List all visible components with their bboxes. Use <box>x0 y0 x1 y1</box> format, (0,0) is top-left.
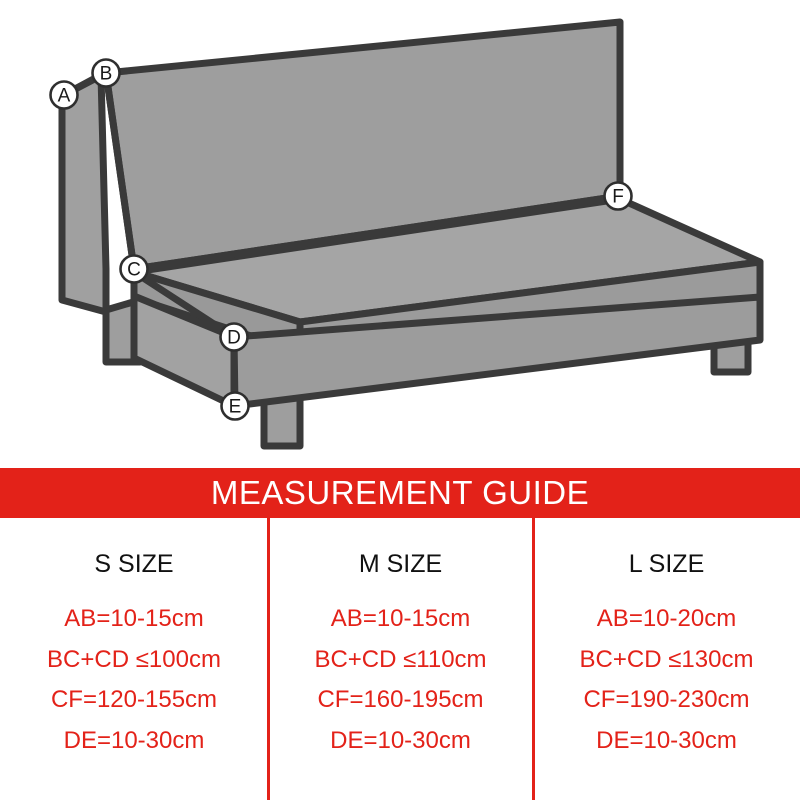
sofa-diagram: A B C D E <box>0 0 800 468</box>
marker-f-label: F <box>612 187 624 208</box>
size-column-s: S SIZE AB=10-15cm BC+CD ≤100cm CF=120-15… <box>0 518 268 800</box>
guide-banner: MEASUREMENT GUIDE <box>0 468 800 518</box>
size-column-l: L SIZE AB=10-20cm BC+CD ≤130cm CF=190-23… <box>533 518 800 800</box>
marker-f: F <box>605 183 632 210</box>
measurement-guide-page: A B C D E <box>0 0 800 800</box>
measurement-row: CF=120-155cm <box>51 684 217 716</box>
measurement-guide-table: MEASUREMENT GUIDE S SIZE AB=10-15cm BC+C… <box>0 468 800 800</box>
measurement-row: CF=160-195cm <box>317 684 483 716</box>
size-column-s-rows: AB=10-15cm BC+CD ≤100cm CF=120-155cm DE=… <box>47 603 221 757</box>
size-column-l-title: L SIZE <box>629 550 705 579</box>
measurement-row: BC+CD ≤100cm <box>47 644 221 676</box>
measurement-row: AB=10-15cm <box>331 603 470 635</box>
marker-b-label: B <box>100 64 113 85</box>
marker-a: A <box>51 82 78 109</box>
marker-c-label: C <box>127 260 141 281</box>
marker-a-label: A <box>58 86 71 107</box>
sofa-backrest-side-panel <box>62 75 106 312</box>
marker-d-label: D <box>227 328 241 349</box>
size-column-m-rows: AB=10-15cm BC+CD ≤110cm CF=160-195cm DE=… <box>314 603 486 757</box>
sofa-illustration: A B C D E <box>0 0 800 468</box>
marker-b: B <box>93 60 120 87</box>
measurement-row: BC+CD ≤110cm <box>314 644 486 676</box>
marker-e: E <box>222 393 249 420</box>
guide-columns: S SIZE AB=10-15cm BC+CD ≤100cm CF=120-15… <box>0 518 800 800</box>
marker-d: D <box>221 324 248 351</box>
measurement-row: CF=190-230cm <box>583 684 749 716</box>
measurement-row: DE=10-30cm <box>596 725 737 757</box>
measurement-row: AB=10-15cm <box>64 603 203 635</box>
measurement-row: DE=10-30cm <box>330 725 471 757</box>
marker-e-label: E <box>229 397 242 418</box>
size-column-m-title: M SIZE <box>359 550 442 579</box>
guide-banner-title: MEASUREMENT GUIDE <box>211 474 589 512</box>
measurement-row: BC+CD ≤130cm <box>580 644 754 676</box>
size-column-s-title: S SIZE <box>94 550 173 579</box>
size-column-l-rows: AB=10-20cm BC+CD ≤130cm CF=190-230cm DE=… <box>580 603 754 757</box>
marker-c: C <box>121 256 148 283</box>
size-column-m: M SIZE AB=10-15cm BC+CD ≤110cm CF=160-19… <box>268 518 533 800</box>
measurement-row: AB=10-20cm <box>597 603 736 635</box>
measurement-row: DE=10-30cm <box>64 725 205 757</box>
